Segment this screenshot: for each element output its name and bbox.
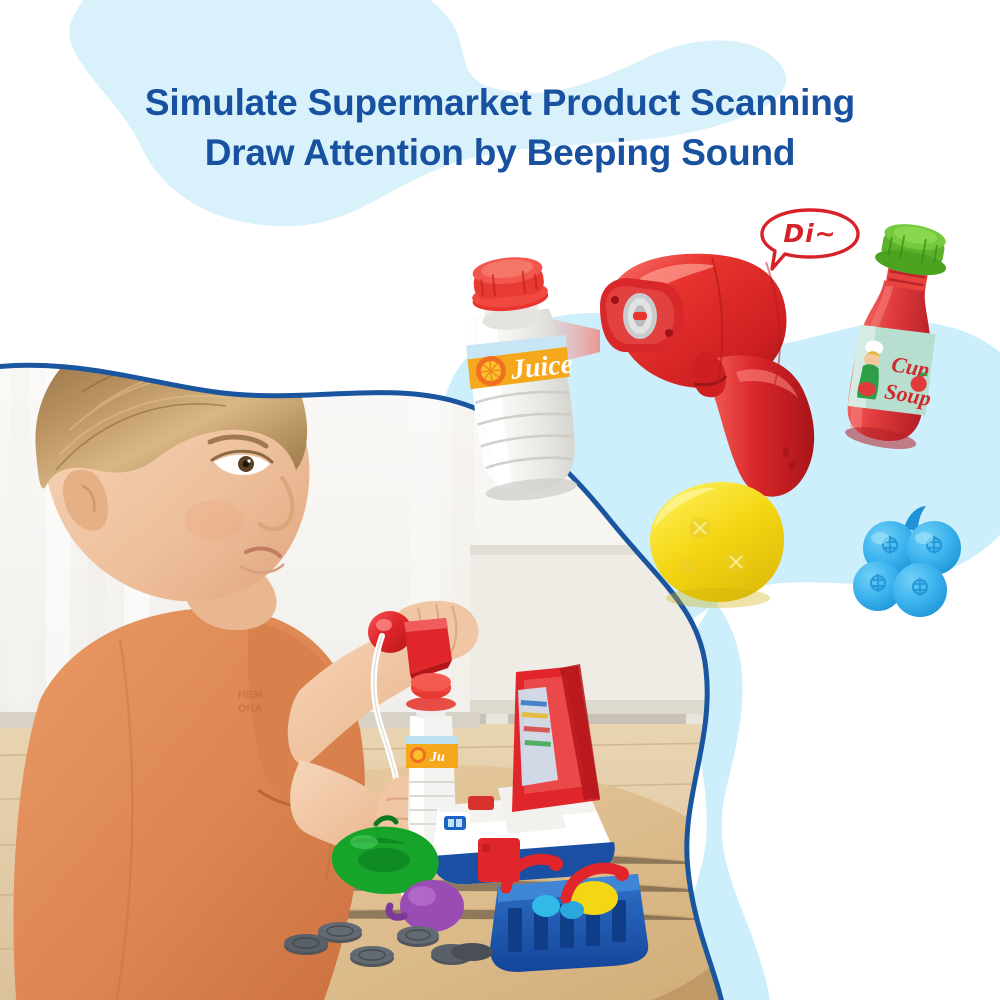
banner-canvas: HEM ONA	[0, 0, 1000, 1000]
beep-speech-bubble: Di~	[758, 207, 862, 273]
juice-label-text: Juice	[508, 348, 574, 385]
hero-juice-bottle: Juice	[457, 252, 586, 505]
beep-text: Di~	[758, 207, 862, 259]
hero-lemon-toy	[650, 482, 784, 608]
product-hero-layer: Juice	[0, 0, 1000, 1000]
hero-blueberry-cluster	[853, 506, 961, 617]
hero-scanner-gun	[600, 254, 814, 497]
